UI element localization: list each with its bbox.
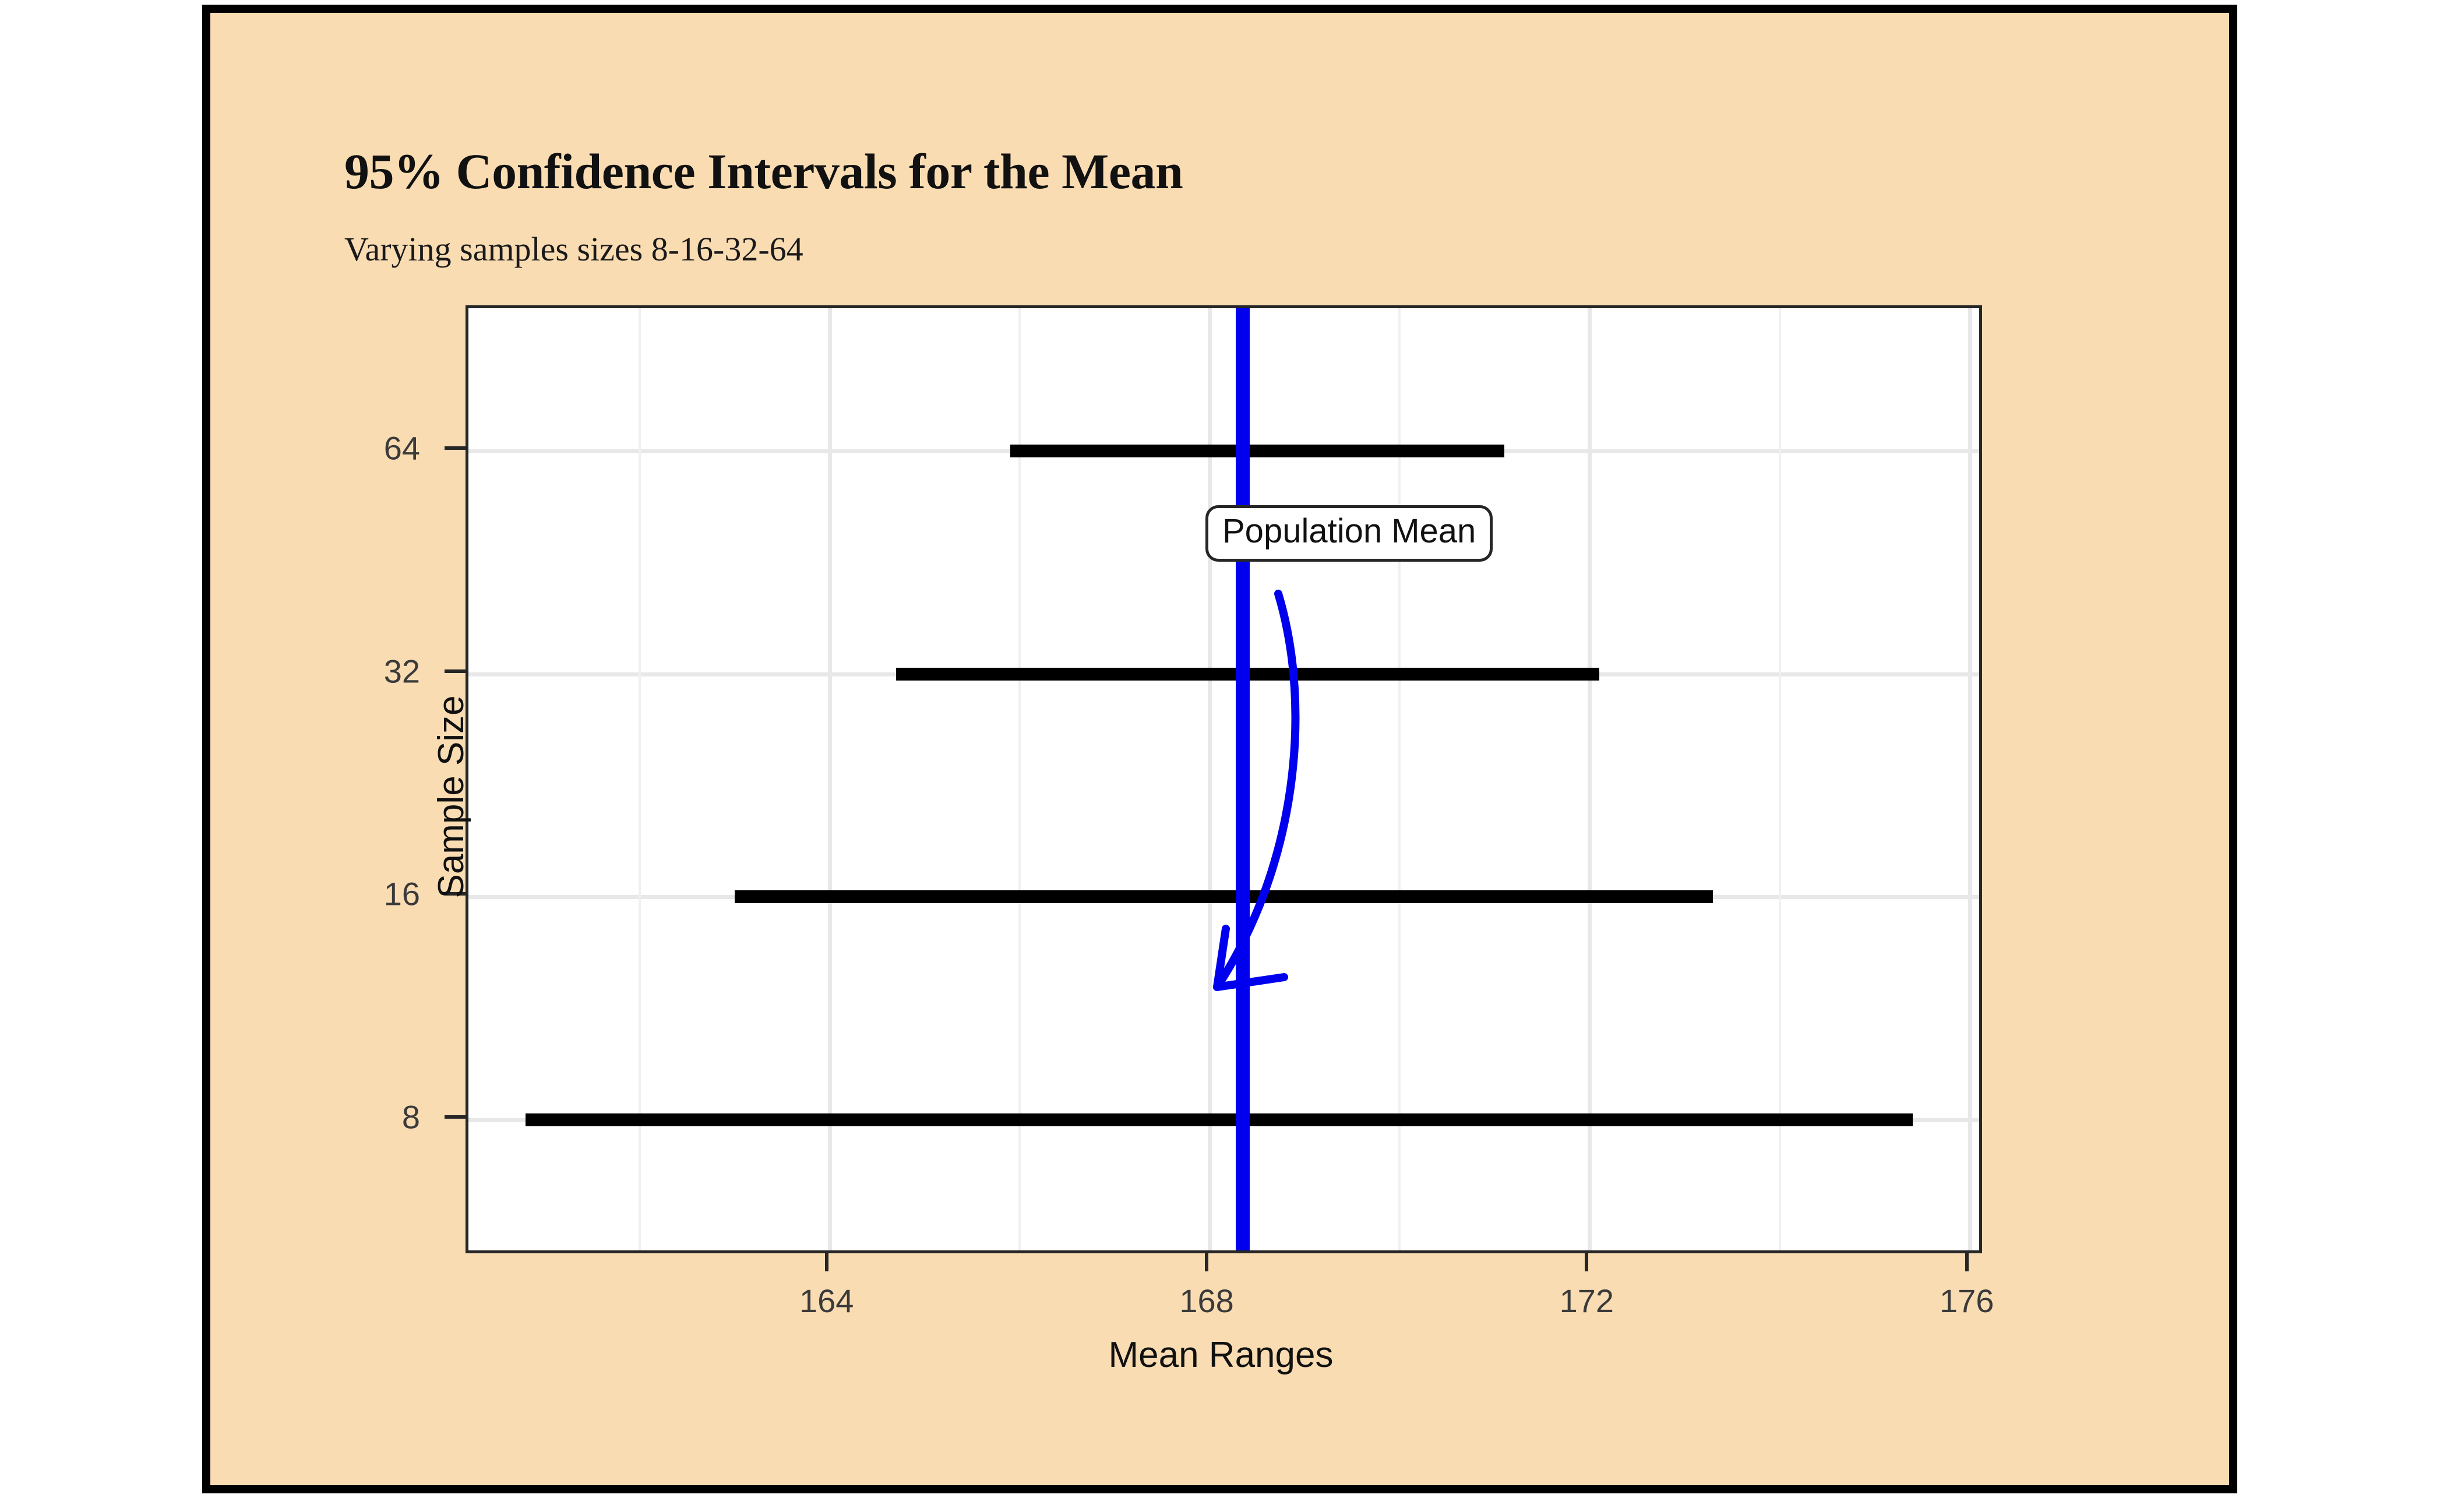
x-axis-tick-label: 168 [1179,1282,1233,1320]
population-mean-label: Population Mean [1205,505,1493,562]
population-mean-reference-line [1236,308,1250,1250]
x-axis-title: Mean Ranges [466,1334,1976,1376]
y-axis-tick-label: 16 [384,875,420,913]
gridline-vertical-minor [639,308,641,1250]
y-axis-title: Sample Size [431,326,472,1268]
plot-panel: Population Mean [466,305,1982,1253]
gridline-vertical-major [1968,308,1972,1250]
x-axis-tick-label: 172 [1560,1282,1614,1320]
confidence-interval-bar [1010,445,1504,457]
x-axis-tick [1965,1250,1969,1271]
gridline-vertical-major [828,308,832,1250]
confidence-interval-bar [526,1113,1913,1126]
x-axis-tick [825,1250,828,1271]
plot-area: Population Mean [468,308,1979,1250]
confidence-interval-bar [735,890,1713,903]
x-axis-tick-label: 176 [1940,1282,1994,1320]
x-axis-tick-label: 164 [799,1282,854,1320]
chart-subtitle: Varying samples sizes 8-16-32-64 [344,230,803,269]
x-axis-tick [1585,1250,1588,1271]
y-axis-tick-label: 32 [384,653,420,690]
y-axis-tick-label: 8 [402,1098,420,1136]
x-axis-tick [1205,1250,1208,1271]
gridline-vertical-major [1588,308,1592,1250]
chart-title: 95% Confidence Intervals for the Mean [344,142,1183,200]
figure-frame: 95% Confidence Intervals for the Mean Va… [202,5,2237,1493]
y-axis-tick-label: 64 [384,429,420,467]
gridline-vertical-minor [1779,308,1781,1250]
